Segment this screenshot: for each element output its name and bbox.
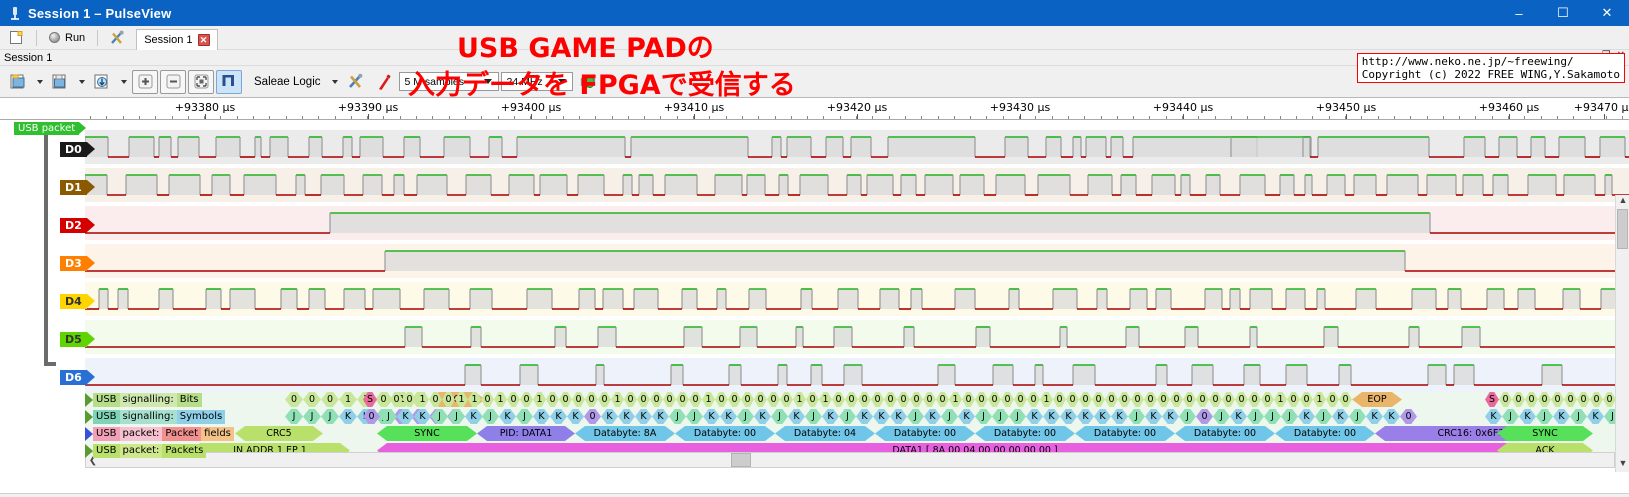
copyright-url-box: http://www.neko.ne.jp/~freewing/ Copyrig… [1357, 53, 1625, 83]
new-session-button[interactable] [4, 26, 30, 50]
decoder-title-chip: USB [93, 427, 120, 441]
ruler-minor-tick [1068, 116, 1069, 119]
ruler-minor-tick [595, 116, 596, 119]
ruler-minor-tick [1084, 116, 1085, 119]
ruler-tick [857, 114, 858, 119]
zoom-out-button[interactable] [160, 70, 186, 94]
ruler-minor-tick [677, 116, 678, 119]
open-file-button[interactable] [6, 70, 32, 94]
ruler-minor-tick [1280, 116, 1281, 119]
ruler-minor-tick [889, 116, 890, 119]
decoder-title-usb-signalling-bits[interactable]: USBsignalling:Bits [85, 392, 202, 407]
ruler-minor-tick [351, 116, 352, 119]
channel-label-d3[interactable]: D3 [60, 256, 87, 271]
decoder-packet-field[interactable]: Databyte: 00 [1275, 426, 1375, 441]
ruler-tick-label: +93460 µs [1479, 101, 1539, 114]
ruler-minor-tick [986, 116, 987, 119]
ruler-tick-label: +93390 µs [338, 101, 398, 114]
ruler-minor-tick [1541, 116, 1542, 119]
ruler-tick [368, 114, 369, 119]
decoder-stack-tag[interactable]: USB packet [14, 122, 79, 135]
zoom-in-icon [138, 74, 153, 89]
ruler-minor-tick [579, 116, 580, 119]
decoder-packet-field[interactable]: SYNC [1497, 426, 1593, 441]
device-name-label[interactable]: Saleae Logic [244, 76, 327, 88]
run-icon [49, 32, 60, 43]
ruler-minor-tick [1003, 116, 1004, 119]
save-file-dropdown-caret[interactable] [79, 80, 85, 84]
ruler-minor-tick [775, 116, 776, 119]
decoder-title-chip: signalling: [120, 410, 177, 424]
device-dropdown-caret[interactable] [332, 80, 338, 84]
toolbar-separator [97, 30, 98, 46]
window-controls: – ☐ ✕ [1497, 0, 1629, 26]
ruler-minor-tick [807, 116, 808, 119]
decoder-title-usb-packet-packet-fields[interactable]: USBpacket:Packetfields [85, 426, 234, 441]
ruler-minor-tick [1361, 116, 1362, 119]
ruler-minor-tick [1492, 116, 1493, 119]
ruler-tick-label: +93470 µs [1574, 101, 1629, 114]
waveform-pane[interactable]: USBsignalling:BitsUSBsignalling:SymbolsU… [85, 120, 1629, 472]
zoom-fit-button[interactable] [188, 70, 214, 94]
ruler-tick [1183, 114, 1184, 119]
decoder-title-chip: packet: [120, 427, 163, 441]
ruler-minor-tick [237, 116, 238, 119]
ruler-tick-label: +93440 µs [1153, 101, 1213, 114]
ruler-minor-tick [563, 116, 564, 119]
settings-button[interactable] [104, 26, 130, 50]
ruler-minor-tick [123, 116, 124, 119]
ruler-minor-tick [1524, 116, 1525, 119]
decoder-packet-field[interactable]: PID: DATA1 [477, 426, 575, 441]
ruler-minor-tick [1215, 116, 1216, 119]
device-config-button[interactable] [343, 70, 369, 94]
ruler-minor-tick [1508, 116, 1509, 119]
ruler-minor-tick [1622, 116, 1623, 119]
ruler-minor-tick [954, 116, 955, 119]
time-ruler[interactable]: +93380 µs+93390 µs+93400 µs+93410 µs+934… [0, 98, 1629, 120]
decoder-title-usb-packet-packets[interactable]: USBpacket:Packets [85, 443, 206, 458]
ruler-tick [1509, 114, 1510, 119]
run-label: Run [65, 32, 85, 44]
ruler-minor-tick [220, 116, 221, 119]
ruler-minor-tick [318, 116, 319, 119]
waveform-lane-d6[interactable] [85, 358, 1629, 392]
ruler-minor-tick [1312, 116, 1313, 119]
ruler-minor-tick [921, 116, 922, 119]
open-file-dropdown-caret[interactable] [37, 80, 43, 84]
decoder-title-chip: USB [93, 393, 120, 407]
decoder-title-chip: Symbols [177, 410, 225, 424]
ruler-minor-tick [432, 116, 433, 119]
vertical-scroll-thumb[interactable] [1617, 209, 1628, 249]
ruler-minor-tick [709, 116, 710, 119]
ruler-tick [205, 114, 206, 119]
ruler-minor-tick [1264, 116, 1265, 119]
ruler-minor-tick [856, 116, 857, 119]
ruler-minor-tick [155, 116, 156, 119]
ruler-minor-tick [449, 116, 450, 119]
decoder-packet-field[interactable]: Databyte: 00 [975, 426, 1075, 441]
tab-session-1[interactable]: Session 1 ✕ [136, 29, 217, 50]
ruler-minor-tick [498, 116, 499, 119]
save-file-icon [51, 73, 71, 91]
ruler-tick [1346, 114, 1347, 119]
ruler-minor-tick [106, 116, 107, 119]
ruler-tick [531, 114, 532, 119]
toolbar-separator [36, 30, 37, 46]
ruler-minor-tick [1166, 116, 1167, 119]
ruler-minor-tick [1427, 116, 1428, 119]
horizontal-scroll-thumb[interactable] [731, 453, 751, 467]
ruler-minor-tick [612, 116, 613, 119]
pulseview-icon [6, 4, 24, 22]
ruler-minor-tick [1117, 116, 1118, 119]
decoder-title-chip: signalling: [120, 393, 177, 407]
channel-label-d4[interactable]: D4 [60, 294, 87, 309]
ruler-minor-tick [1606, 116, 1607, 119]
ruler-minor-tick [1052, 116, 1053, 119]
ruler-minor-tick [367, 116, 368, 119]
zoom-fit-icon [194, 74, 209, 89]
ruler-minor-tick [1394, 116, 1395, 119]
decoder-title-usb-signalling-symbols[interactable]: USBsignalling:Symbols [85, 409, 225, 424]
annotation-line-2: 入力データを FPGAで受信する [408, 63, 796, 102]
title-bar: Session 1 – PulseView – ☐ ✕ [0, 0, 1629, 26]
open-file-icon [9, 73, 29, 91]
decoder-packet-field[interactable]: Databyte: 00 [1075, 426, 1175, 441]
ruler-minor-tick [872, 116, 873, 119]
waveform-lane-d0[interactable] [85, 130, 1629, 164]
save-as-dropdown-caret[interactable] [121, 80, 127, 84]
decoder-packet-field[interactable]: Databyte: 00 [1175, 426, 1275, 441]
waveform-lane-d3[interactable] [85, 244, 1629, 278]
ruler-minor-tick [644, 116, 645, 119]
show-cursors-button[interactable] [216, 70, 242, 94]
channel-label-d0[interactable]: D0 [60, 142, 87, 157]
ruler-tick-label: +93420 µs [827, 101, 887, 114]
ruler-minor-tick [1590, 116, 1591, 119]
ruler-minor-tick [1475, 116, 1476, 119]
ruler-minor-tick [1101, 116, 1102, 119]
ruler-minor-tick [1035, 116, 1036, 119]
session-dock-label: Session 1 [4, 52, 52, 64]
waveform-lane-d1[interactable] [85, 168, 1629, 202]
decoder-expand-icon[interactable] [85, 427, 93, 441]
ruler-tick-label: +93410 µs [664, 101, 724, 114]
decoder-title-chip: Bits [177, 393, 202, 407]
ruler-minor-tick [1345, 116, 1346, 119]
ruler-minor-tick [465, 116, 466, 119]
channel-label-d5[interactable]: D5 [60, 332, 87, 347]
ruler-minor-tick [1557, 116, 1558, 119]
channel-label-d6[interactable]: D6 [60, 370, 87, 385]
ruler-tick-label: +93380 µs [175, 101, 235, 114]
ruler-minor-tick [416, 116, 417, 119]
ruler-tick-label: +93450 µs [1316, 101, 1376, 114]
ruler-minor-tick [172, 116, 173, 119]
ruler-minor-tick [530, 116, 531, 119]
ruler-minor-tick [726, 116, 727, 119]
channel-group-bracket [44, 128, 56, 366]
save-as-icon [93, 73, 113, 91]
ruler-minor-tick [1573, 116, 1574, 119]
ruler-minor-tick [1329, 116, 1330, 119]
ruler-minor-tick [286, 116, 287, 119]
ruler-minor-tick [823, 116, 824, 119]
ruler-tick [694, 114, 695, 119]
ruler-minor-tick [1019, 116, 1020, 119]
scroll-down-arrow[interactable]: ▼ [1616, 458, 1629, 472]
decoder-eop[interactable]: EOP [1352, 392, 1402, 407]
zoom-in-button[interactable] [132, 70, 158, 94]
ruler-tick-label: +93400 µs [501, 101, 561, 114]
ruler-minor-tick [481, 116, 482, 119]
ruler-minor-tick [628, 116, 629, 119]
ruler-minor-tick [90, 116, 91, 119]
zoom-out-icon [166, 74, 181, 89]
maximize-button[interactable]: ☐ [1541, 0, 1585, 26]
ruler-minor-tick [1231, 116, 1232, 119]
ruler-minor-tick [253, 116, 254, 119]
decoder-packet-field[interactable]: Databyte: 04 [775, 426, 875, 441]
decoder-packet-field[interactable]: SYNC [377, 426, 477, 441]
ruler-minor-tick [1247, 116, 1248, 119]
ruler-minor-tick [1133, 116, 1134, 119]
close-button[interactable]: ✕ [1585, 0, 1629, 26]
horizontal-scrollbar[interactable]: ❮ [85, 452, 1615, 468]
ruler-minor-tick [204, 116, 205, 119]
decoder-expand-icon[interactable] [85, 410, 93, 424]
decoder-packet-field[interactable]: CRC5 [235, 426, 323, 441]
copyright-line: Copyright (c) 2022 FREE WING,Y.Sakamoto [1362, 68, 1620, 81]
ruler-minor-tick [938, 116, 939, 119]
decoder-title-chip: Packet [162, 427, 201, 441]
decoder-title-chip: USB [93, 444, 120, 458]
decoder-title-chip: fields [201, 427, 234, 441]
save-as-button[interactable] [90, 70, 116, 94]
ruler-minor-tick [660, 116, 661, 119]
ruler-minor-tick [335, 116, 336, 119]
trace-body: D0D1D2D3D4D5D6 USB packet USBsignalling:… [0, 120, 1629, 472]
status-bar [0, 493, 1629, 497]
ruler-minor-tick [1182, 116, 1183, 119]
ruler-minor-tick [905, 116, 906, 119]
decoder-packet-field[interactable]: Databyte: 8A [575, 426, 675, 441]
run-button[interactable]: Run [43, 31, 91, 45]
scroll-up-arrow[interactable]: ▲ [1616, 195, 1629, 209]
ruler-minor-tick [1459, 116, 1460, 119]
window-title: Session 1 – PulseView [28, 6, 171, 21]
minimize-button[interactable]: – [1497, 0, 1541, 26]
decoder-title-chip: Packets [162, 444, 206, 458]
waveform-lane-d5[interactable] [85, 320, 1629, 354]
show-cursors-icon [219, 73, 239, 91]
annotation-line-1: USB GAME PADの [457, 26, 714, 65]
ruler-minor-tick [302, 116, 303, 119]
channel-label-d2[interactable]: D2 [60, 218, 87, 233]
vertical-scrollbar[interactable]: ▲ ▼ [1615, 195, 1629, 472]
channel-label-d1[interactable]: D1 [60, 180, 87, 195]
decoder-packet-field[interactable]: Databyte: 00 [875, 426, 975, 441]
ruler-tick [1020, 114, 1021, 119]
ruler-minor-tick [791, 116, 792, 119]
ruler-minor-tick [546, 116, 547, 119]
ruler-minor-tick [139, 116, 140, 119]
ruler-minor-tick [269, 116, 270, 119]
ruler-minor-tick [1198, 116, 1199, 119]
device-config-icon [347, 73, 365, 90]
waveform-lane-d2[interactable] [85, 206, 1629, 240]
ruler-minor-tick [1410, 116, 1411, 119]
save-file-button[interactable] [48, 70, 74, 94]
ruler-minor-tick [1378, 116, 1379, 119]
main-toolbar: Run Session 1 ✕ [0, 26, 1629, 50]
wrench-screwdriver-icon [109, 30, 126, 46]
url-line: http://www.neko.ne.jp/~freewing/ [1362, 55, 1620, 68]
ruler-minor-tick [970, 116, 971, 119]
ruler-minor-tick [693, 116, 694, 119]
ruler-minor-tick [1443, 116, 1444, 119]
tab-label: Session 1 [144, 34, 192, 46]
decoder-packet-field[interactable]: Databyte: 00 [675, 426, 775, 441]
ruler-minor-tick [742, 116, 743, 119]
ruler-minor-tick [188, 116, 189, 119]
ruler-tick [1604, 114, 1605, 119]
decoder-expand-icon[interactable] [85, 393, 93, 407]
channel-label-pane: D0D1D2D3D4D5D6 USB packet [0, 120, 85, 472]
decoder-expand-icon[interactable] [85, 444, 93, 458]
new-session-icon [9, 30, 25, 45]
ruler-minor-tick [400, 116, 401, 119]
decoder-title-chip: packet: [120, 444, 163, 458]
waveform-lane-d4[interactable] [85, 282, 1629, 316]
ruler-minor-tick [1296, 116, 1297, 119]
tab-close-icon[interactable]: ✕ [198, 34, 210, 46]
ruler-minor-tick [1149, 116, 1150, 119]
session-tab-strip: Session 1 ✕ [136, 27, 217, 48]
ruler-minor-tick [514, 116, 515, 119]
decoder-title-chip: USB [93, 410, 120, 424]
ruler-minor-tick [758, 116, 759, 119]
probe-button[interactable] [371, 70, 397, 94]
probe-icon [375, 72, 393, 91]
trace-view: +93380 µs+93390 µs+93400 µs+93410 µs+934… [0, 98, 1629, 472]
ruler-tick-label: +93430 µs [990, 101, 1050, 114]
ruler-minor-tick [383, 116, 384, 119]
ruler-minor-tick [840, 116, 841, 119]
